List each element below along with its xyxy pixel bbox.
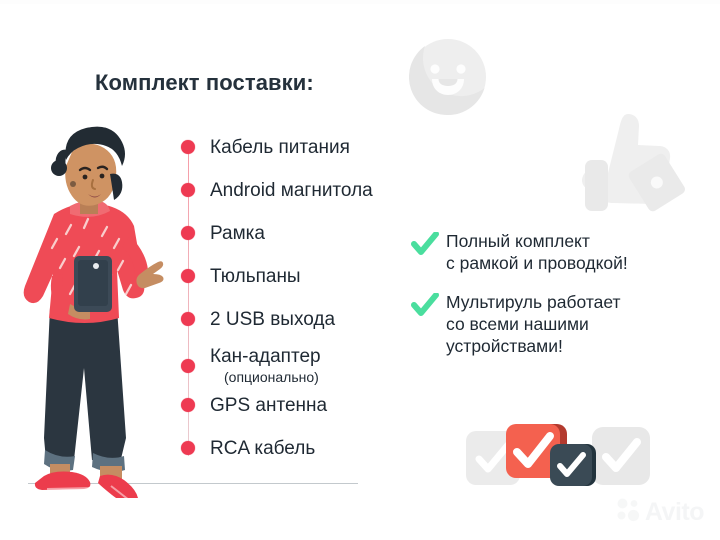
list-item-label: GPS антенна xyxy=(210,396,327,417)
benefit-line-1: Полный комплект xyxy=(446,231,590,251)
thumbs-up-icon xyxy=(578,108,686,220)
benefit-item: Мультируль работает со всеми нашими устр… xyxy=(411,292,711,357)
list-item: Рамка xyxy=(181,224,265,245)
bullet-dot-icon xyxy=(181,269,195,283)
benefit-line-2: со всеми нашими xyxy=(446,314,589,334)
bullet-dot-icon xyxy=(181,140,195,154)
list-item: Тюльпаны xyxy=(181,267,301,288)
benefits-list: Полный комплект с рамкой и проводкой! Му… xyxy=(411,231,711,357)
list-item-label: Кабель питания xyxy=(210,138,350,159)
list-item: 2 USB выхода xyxy=(181,310,335,331)
avito-watermark: Avito xyxy=(615,497,704,528)
top-band xyxy=(0,0,720,4)
list-item-label: RCA кабель xyxy=(210,439,315,460)
benefit-line-3: устройствами! xyxy=(446,336,563,356)
benefit-text: Полный комплект с рамкой и проводкой! xyxy=(446,231,628,274)
list-item: Кабель питания xyxy=(181,138,350,159)
checkbox-graphic-group xyxy=(466,422,646,484)
checkmark-icon xyxy=(411,232,439,263)
poster-canvas: Комплект поставки: xyxy=(0,0,720,540)
list-item-label: Кан-адаптер xyxy=(210,346,321,367)
woman-pointing-illustration xyxy=(14,108,184,498)
bullet-dot-icon xyxy=(181,312,195,326)
avito-watermark-text: Avito xyxy=(645,500,704,525)
avito-logo-icon xyxy=(615,497,641,528)
benefit-item: Полный комплект с рамкой и проводкой! xyxy=(411,231,711,274)
benefit-line-1: Мультируль работает xyxy=(446,292,621,312)
bullet-dot-icon xyxy=(181,441,195,455)
list-item: Кан-адаптер (опционально) xyxy=(181,347,321,385)
list-item-label: Android магнитола xyxy=(210,181,373,202)
list-item: GPS антенна xyxy=(181,396,327,417)
checkmark-icon xyxy=(411,293,439,324)
bullet-dot-icon xyxy=(181,359,195,373)
benefit-text: Мультируль работает со всеми нашими устр… xyxy=(446,292,621,357)
list-item: Android магнитола xyxy=(181,181,373,202)
benefit-line-2: с рамкой и проводкой! xyxy=(446,253,628,273)
list-item-label: Рамка xyxy=(210,224,265,245)
list-item-sublabel: (опционально) xyxy=(224,369,321,385)
checkbox-dark xyxy=(550,444,592,486)
page-title: Комплект поставки: xyxy=(95,70,314,96)
list-item: RCA кабель xyxy=(181,439,315,460)
bullet-dot-icon xyxy=(181,398,195,412)
smiley-face-icon xyxy=(409,38,487,116)
bullet-dot-icon xyxy=(181,226,195,240)
checkbox-grey-right xyxy=(592,427,650,485)
list-item-label: Тюльпаны xyxy=(210,267,301,288)
list-item-label: 2 USB выхода xyxy=(210,310,335,331)
bullet-dot-icon xyxy=(181,183,195,197)
